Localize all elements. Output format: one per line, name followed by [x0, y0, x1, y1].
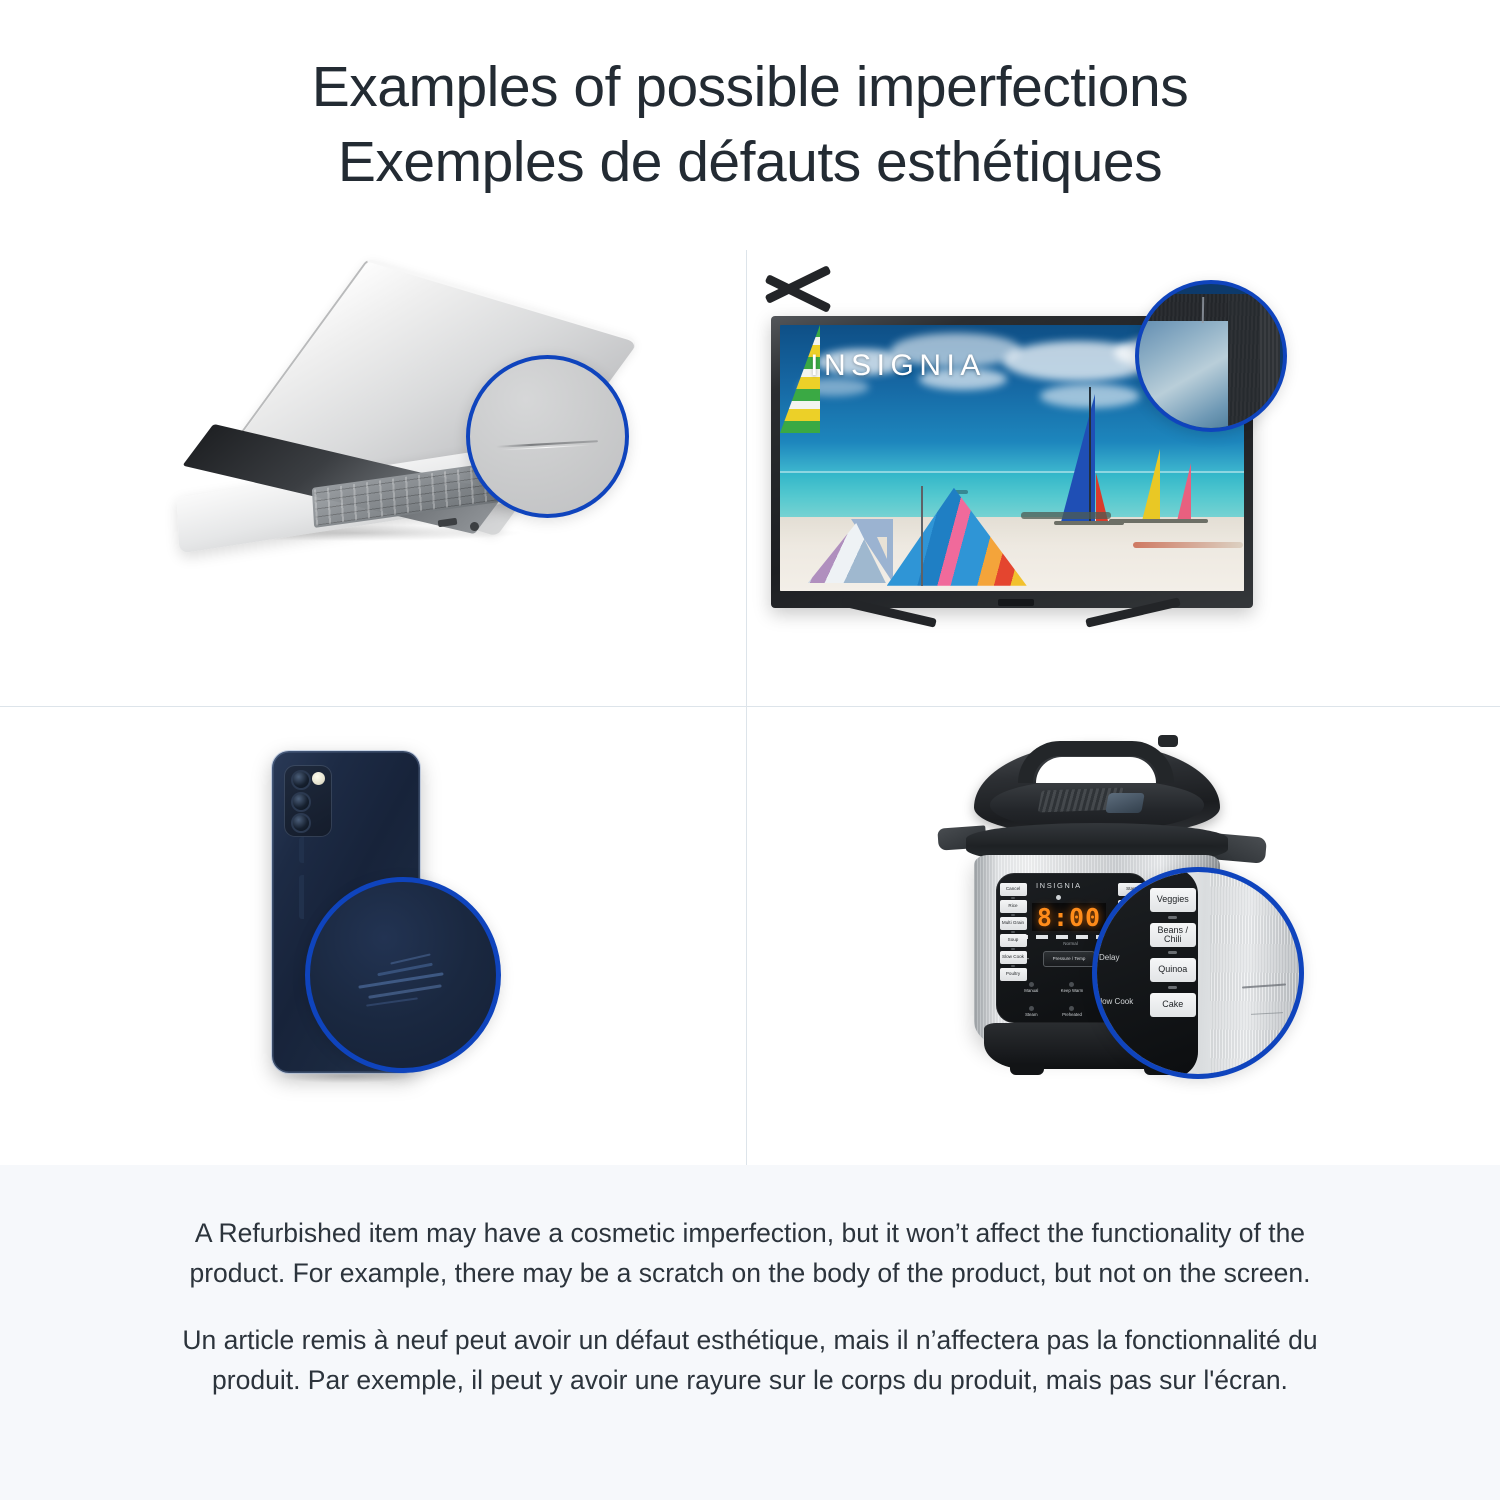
tv-screen-brand-label: INSIGNIA: [810, 349, 986, 383]
cooker-key[interactable]: Multi Grain: [1000, 917, 1027, 930]
tv-zoom-screen: [1135, 316, 1240, 432]
camera-lens-icon: [291, 792, 311, 812]
cooker-pressure-temp-button[interactable]: Pressure / Temp: [1043, 951, 1095, 967]
cooker-key[interactable]: Rice: [1000, 900, 1027, 913]
tv-illustration: INSIGNIA: [763, 280, 1263, 670]
magnifier-circle-laptop: [466, 355, 629, 518]
cooker-key-led: [1011, 897, 1015, 899]
cooker-button-led: [1069, 982, 1074, 987]
cooker-key[interactable]: Cancel: [1000, 883, 1027, 896]
example-cell-smartphone: [0, 707, 746, 1165]
tv-scene-hull: [1160, 519, 1208, 523]
tv-scene-kite-pole: [921, 486, 923, 586]
phone-scuff-mark: [366, 997, 418, 1006]
cooker-steam-valve: [1105, 793, 1145, 813]
tv-scene-horizon: [780, 471, 1244, 473]
tv-scene-sail-yellow: [1142, 449, 1160, 521]
cooker-zoom-key-led: [1168, 951, 1177, 954]
tv-scene-mast: [1089, 387, 1091, 522]
phone-camera-module: [284, 765, 332, 837]
bar-label-normal: Normal: [1063, 941, 1078, 946]
cooker-button-led: [1029, 982, 1034, 987]
cooker-brand-label: INSIGNIA: [1036, 881, 1082, 890]
tv-zoom-bezel-side: [1260, 298, 1280, 425]
phone-scuff-mark: [377, 962, 432, 975]
example-cell-laptop: [0, 250, 746, 706]
example-cell-pressure-cooker: INSIGNIA 8:00 Low Normal High – + Pressu…: [747, 707, 1500, 1165]
tv-scene-hull: [1109, 519, 1165, 523]
page-title-en: Examples of possible imperfections: [312, 50, 1188, 125]
tv-scene-sail-pink: [1177, 463, 1191, 521]
cooker-handle-inner: [1036, 757, 1156, 783]
tv-scene-beach-object: [1133, 542, 1243, 548]
cooker-bottom-button-label: Keep Warm: [1061, 989, 1084, 994]
cooker-bottom-button[interactable]: Keep Warm: [1053, 973, 1092, 994]
magnifier-circle-phone: [305, 877, 501, 1073]
phone-scuff-mark: [368, 984, 442, 999]
cooker-zoom-key-column: Veggies Beans / Chili Quinoa Cake: [1148, 888, 1199, 1050]
magnifier-circle-tv: [1135, 280, 1287, 432]
cooker-zoom-key-led: [1168, 916, 1177, 919]
cooker-zoom-key-led: [1168, 986, 1177, 989]
cooker-bottom-button-label: Manual: [1024, 989, 1038, 994]
cooker-key-led: [1011, 948, 1015, 950]
cooker-foot-left: [1010, 1065, 1044, 1075]
tv-scene-kite: [861, 537, 887, 559]
cooker-zoom-brushed-steel: [1210, 872, 1303, 1074]
cooker-key-led: [1011, 914, 1015, 916]
cooker-bottom-button-label: Steam: [1025, 1013, 1037, 1018]
cooker-led-display: 8:00: [1032, 903, 1106, 931]
cooker-key-led: [1011, 931, 1015, 933]
infographic-page: Examples of possible imperfections Exemp…: [0, 0, 1500, 1500]
cooker-zoom-label-slowcook: Slow Cook: [1095, 997, 1133, 1006]
laptop-illustration: [170, 275, 690, 575]
tv-indicator-led: [998, 599, 1034, 606]
cooker-key-led: [1011, 965, 1015, 967]
cooker-zoom-key[interactable]: Cake: [1150, 993, 1196, 1017]
cooker-button-led: [1029, 1006, 1034, 1011]
cooker-lid-knob: [1158, 735, 1178, 747]
footer-disclaimer: A Refurbished item may have a cosmetic i…: [0, 1165, 1500, 1500]
phone-illustration: [240, 747, 500, 1127]
header: Examples of possible imperfections Exemp…: [0, 0, 1500, 250]
cooker-zoom-key[interactable]: Quinoa: [1150, 958, 1196, 982]
camera-flash-icon: [312, 772, 325, 785]
cooker-bottom-button[interactable]: Steam: [1012, 997, 1051, 1018]
cooker-bottom-button[interactable]: Manual: [1012, 973, 1051, 994]
cooker-button-led: [1069, 1006, 1074, 1011]
camera-lens-icon: [291, 770, 311, 790]
cooker-zoom-key[interactable]: Beans / Chili: [1150, 923, 1196, 947]
phone-volume-button: [299, 837, 304, 863]
tv-scene-beach-object: [1021, 512, 1111, 519]
magnifier-circle-cooker: Delay Slow Cook Veggies Beans / Chili Qu…: [1092, 867, 1304, 1079]
cooker-zoom-label-delay: Delay: [1099, 953, 1119, 962]
camera-lens-icon: [291, 813, 311, 833]
cooker-bottom-button-label: Preheated: [1062, 1013, 1082, 1018]
cooker-status-led: [1056, 895, 1061, 900]
disclaimer-paragraph-fr: Un article remis à neuf peut avoir un dé…: [150, 1320, 1350, 1401]
example-cell-television: INSIGNIA: [747, 250, 1500, 706]
pressure-cooker-illustration: INSIGNIA 8:00 Low Normal High – + Pressu…: [922, 727, 1312, 1127]
phone-power-button: [299, 875, 304, 919]
page-title-fr: Exemples de défauts esthétiques: [338, 125, 1162, 200]
cooker-key[interactable]: Soup: [1000, 934, 1027, 947]
cooker-zoom-key[interactable]: Veggies: [1150, 888, 1196, 912]
disclaimer-paragraph-en: A Refurbished item may have a cosmetic i…: [150, 1213, 1350, 1294]
examples-grid: INSIGNIA: [0, 250, 1500, 1165]
cooker-key[interactable]: Slow Cook: [1000, 951, 1027, 964]
cooker-bottom-button[interactable]: Preheated: [1053, 997, 1092, 1018]
